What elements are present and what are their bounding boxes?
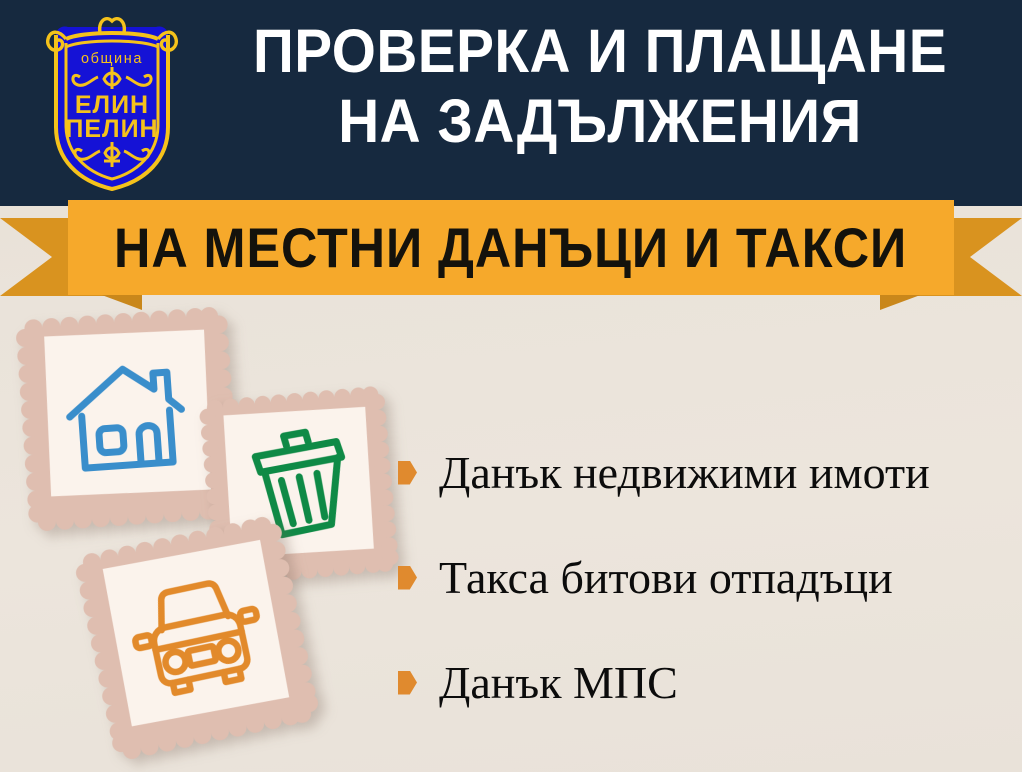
poster-title: ПРОВЕРКА И ПЛАЩАНЕ НА ЗАДЪЛЖЕНИЯ	[190, 16, 1010, 156]
ribbon-label: НА МЕСТНИ ДАНЪЦИ И ТАКСИ	[114, 215, 907, 280]
stamp-card-vehicle	[72, 513, 321, 762]
car-front-stamp-icon	[72, 513, 321, 762]
subtitle-ribbon: НА МЕСТНИ ДАНЪЦИ И ТАКСИ	[0, 196, 1022, 306]
list-item-label: Такса битови отпадъци	[439, 555, 893, 601]
svg-text:ПЕЛИН: ПЕЛИН	[65, 115, 158, 143]
tax-types-list: Данък недвижими имоти Такса битови отпад…	[398, 420, 1008, 735]
arrow-bullet-icon	[398, 671, 417, 695]
list-item: Данък недвижими имоти	[398, 420, 1008, 525]
poster-root: община ЕЛИН ПЕЛИН ПРОВЕРКА И ПЛАЩАНЕ НА …	[0, 0, 1022, 772]
ribbon-band: НА МЕСТНИ ДАНЪЦИ И ТАКСИ	[68, 200, 954, 295]
list-item: Такса битови отпадъци	[398, 525, 1008, 630]
arrow-bullet-icon	[398, 566, 417, 590]
title-line-1: ПРОВЕРКА И ПЛАЩАНЕ	[219, 16, 982, 86]
svg-text:община: община	[81, 51, 143, 67]
list-item-label: Данък недвижими имоти	[439, 450, 930, 496]
arrow-bullet-icon	[398, 461, 417, 485]
municipality-logo: община ЕЛИН ПЕЛИН	[42, 9, 182, 191]
title-line-2: НА ЗАДЪЛЖЕНИЯ	[219, 86, 982, 156]
list-item-label: Данък МПС	[439, 660, 678, 706]
coat-of-arms-icon: община ЕЛИН ПЕЛИН	[42, 9, 182, 191]
list-item: Данък МПС	[398, 630, 1008, 735]
